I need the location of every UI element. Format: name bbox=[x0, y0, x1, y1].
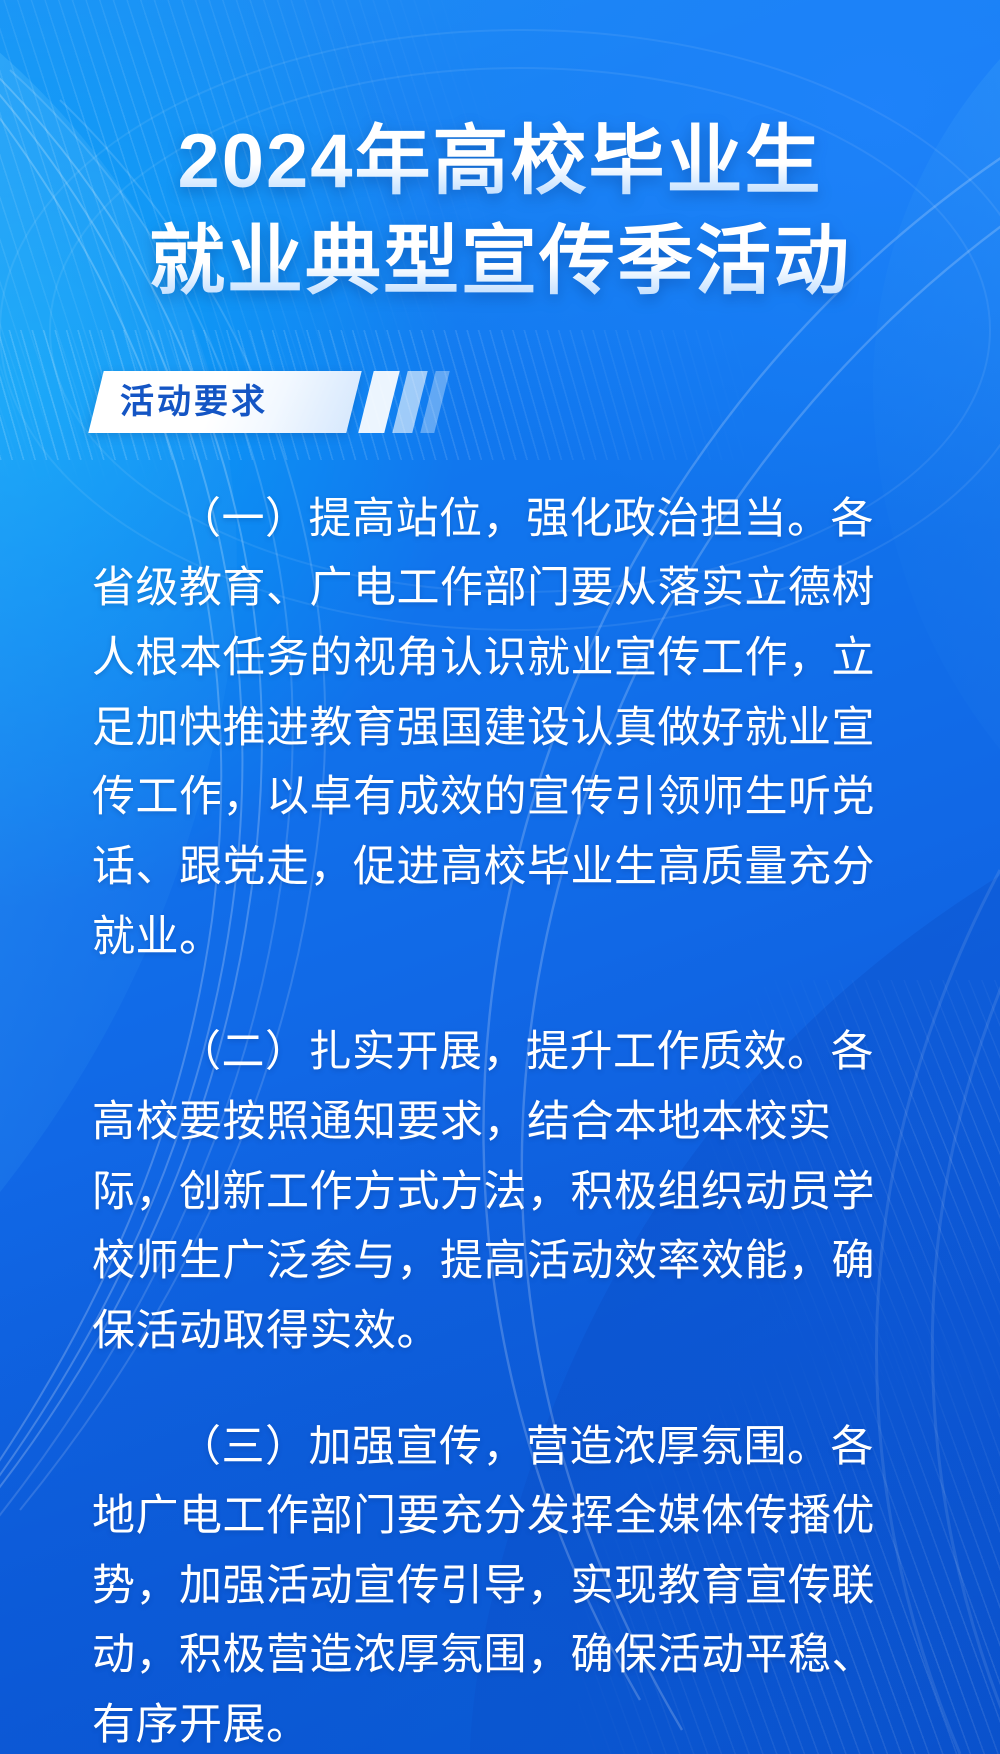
body-paragraph-2: （二）扎实开展，提升工作质效。各高校要按照通知要求，结合本地本校实际，创新工作方… bbox=[92, 1018, 908, 1366]
section-badge: 活动要求 bbox=[0, 371, 1000, 433]
poster-header: 2024年高校毕业生 就业典型宣传季活动 bbox=[0, 0, 1000, 313]
poster-title-line-2: 就业典型宣传季活动 bbox=[0, 212, 1000, 312]
section-badge-label: 活动要求 bbox=[120, 371, 268, 433]
body-content: （一）提高站位，强化政治担当。各省级教育、广电工作部门要从落实立德树人根本任务的… bbox=[92, 485, 908, 1754]
poster-canvas: 2024年高校毕业生 就业典型宣传季活动 活动要求 （一）提高站位，强化政治担当… bbox=[0, 0, 1000, 1754]
body-paragraph-3: （三）加强宣传，营造浓厚氛围。各地广电工作部门要充分发挥全媒体传播优势，加强活动… bbox=[92, 1413, 908, 1754]
body-paragraph-1: （一）提高站位，强化政治担当。各省级教育、广电工作部门要从落实立德树人根本任务的… bbox=[92, 485, 908, 973]
poster-title-line-1: 2024年高校毕业生 bbox=[0, 112, 1000, 212]
